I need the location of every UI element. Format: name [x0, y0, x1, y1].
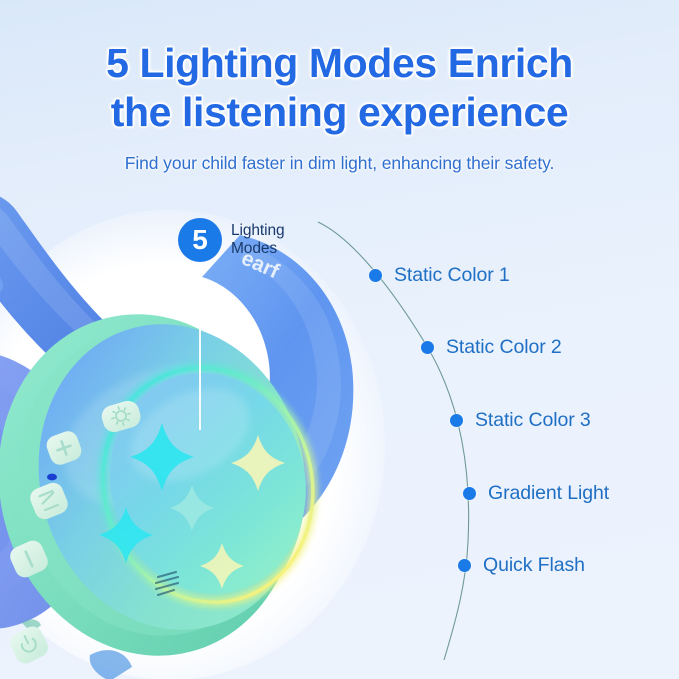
subheadline: Find your child faster in dim light, enh…	[0, 153, 679, 174]
headline-line-1: 5 Lighting Modes Enrich	[0, 37, 679, 89]
badge-label-line-1: Lighting	[231, 222, 285, 240]
mode-label: Static Color 1	[394, 264, 510, 287]
bullet-dot-icon	[421, 341, 434, 354]
leader-line	[199, 262, 201, 430]
mode-label: Static Color 3	[475, 409, 591, 432]
mode-label: Static Color 2	[446, 336, 562, 359]
bullet-dot-icon	[458, 559, 471, 572]
header: 5 Lighting Modes Enrich the listening ex…	[0, 0, 679, 174]
badge-count: 5	[178, 218, 222, 262]
headline-line-2: the listening experience	[0, 86, 679, 138]
bullet-dot-icon	[450, 414, 463, 427]
badge-label: Lighting Modes	[231, 222, 285, 259]
mode-label: Quick Flash	[483, 554, 585, 577]
list-item: Gradient Light	[463, 482, 609, 505]
lighting-modes-callout: 5 Lighting Modes	[178, 218, 285, 262]
list-item: Static Color 1	[369, 264, 510, 287]
list-item: Static Color 2	[421, 336, 562, 359]
bullet-dot-icon	[463, 487, 476, 500]
mode-label: Gradient Light	[488, 482, 609, 505]
status-led	[47, 474, 57, 481]
list-item: Static Color 3	[450, 409, 591, 432]
bullet-dot-icon	[369, 269, 382, 282]
list-item: Quick Flash	[458, 554, 585, 577]
badge-label-line-2: Modes	[231, 240, 285, 258]
infographic-canvas: 5 Lighting Modes Enrich the listening ex…	[0, 0, 679, 679]
